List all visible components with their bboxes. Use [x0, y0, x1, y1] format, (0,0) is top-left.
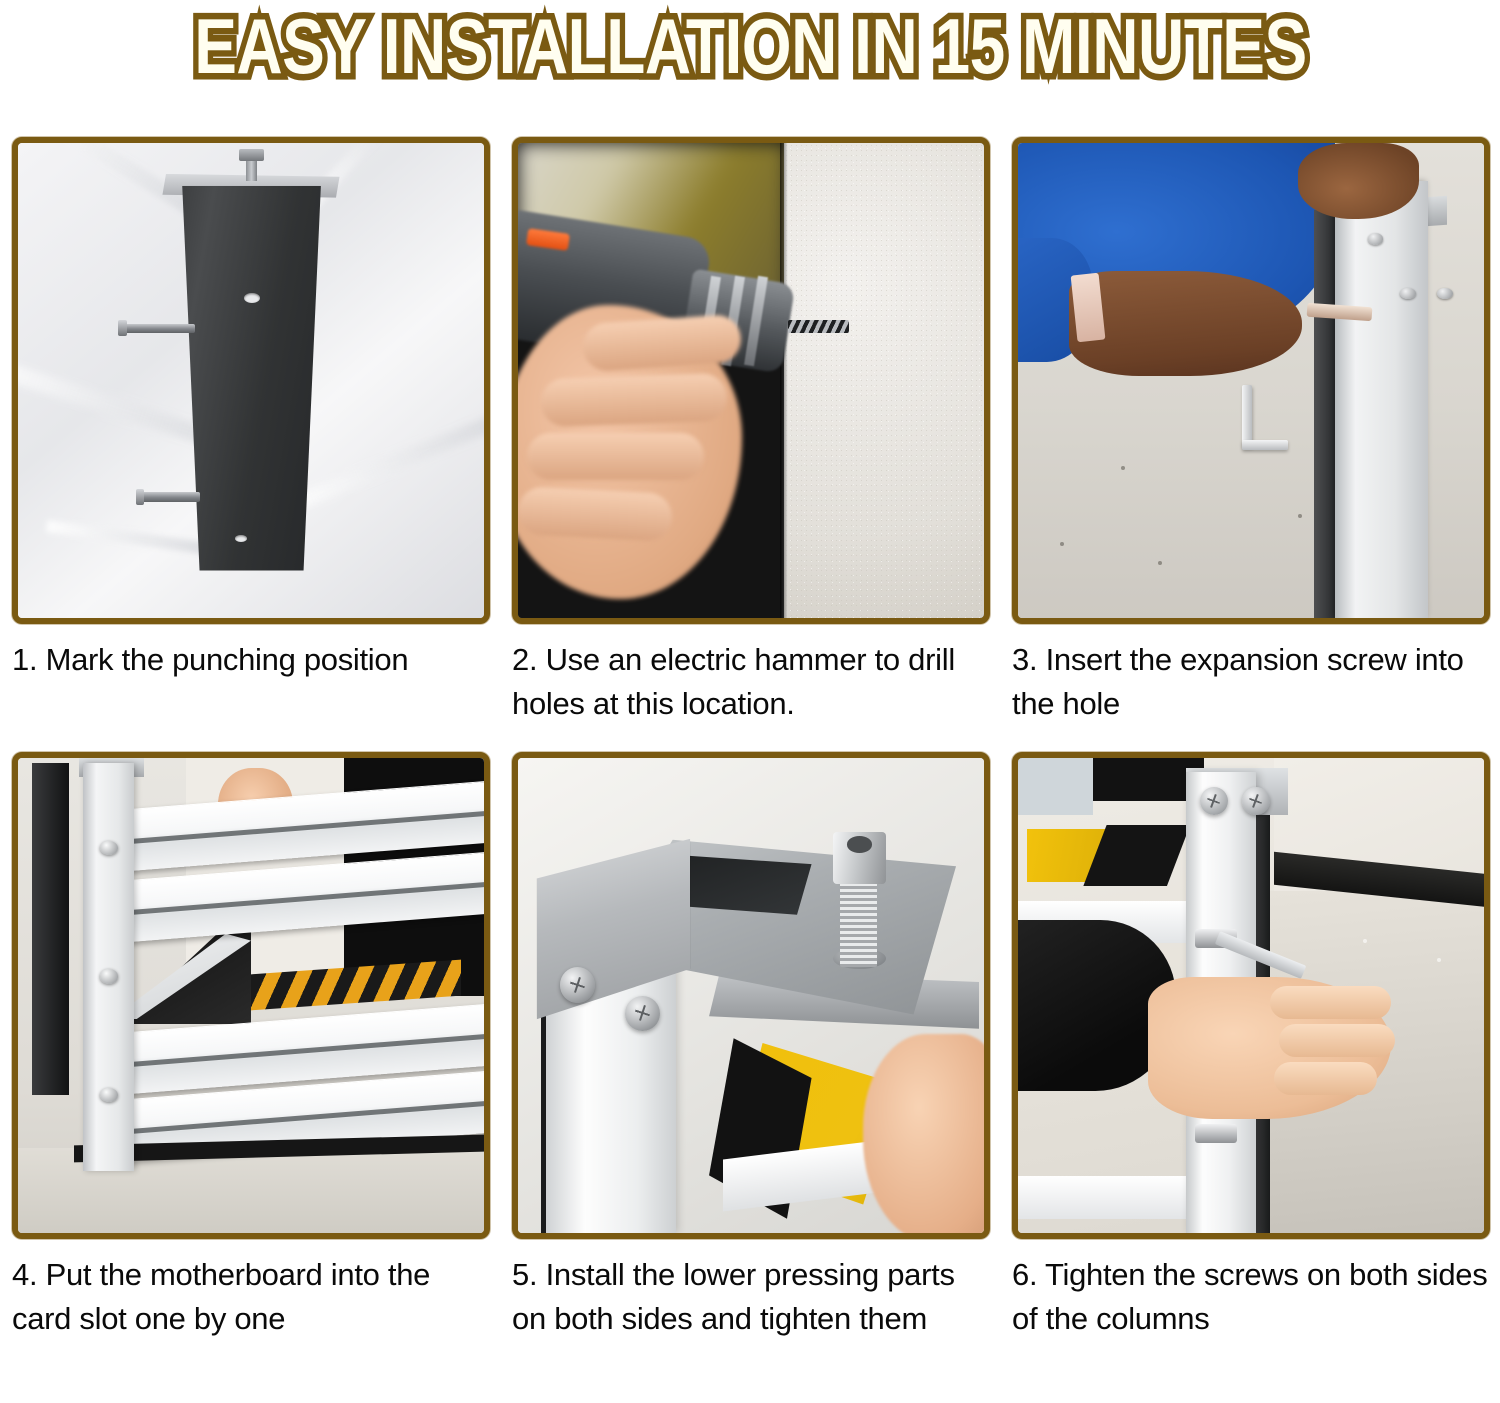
step-3-caption: 3. Insert the expansion screw into the h… — [1012, 638, 1488, 734]
expansion-screw-lower — [139, 492, 200, 502]
phillips-screw-1 — [560, 967, 595, 1003]
step-6-image-frame — [1012, 752, 1490, 1239]
top-bolt — [239, 149, 264, 161]
phillips-screw-1 — [1200, 787, 1228, 816]
step-1-caption: 1. Mark the punching position — [12, 638, 488, 734]
installation-guide-page: EASY INSTALLATION IN 15 MINUTES 1. Mark … — [0, 0, 1500, 1403]
step-5-image-frame — [512, 752, 990, 1239]
step-6-photo-tighten-column-screws — [1018, 758, 1484, 1233]
steps-grid: 1. Mark the punching position — [0, 92, 1500, 1349]
step-card-4: 4. Put the motherboard into the card slo… — [0, 734, 500, 1349]
step-card-2: 2. Use an electric hammer to drill holes… — [500, 92, 1000, 734]
hex-bolt-thread — [840, 877, 877, 967]
step-1-image-frame — [12, 137, 490, 624]
column-base-post — [176, 186, 320, 571]
step-2-photo-drill-holes — [518, 143, 984, 618]
mounting-hole-upper — [244, 293, 260, 303]
page-title: EASY INSTALLATION IN 15 MINUTES — [194, 7, 1307, 85]
step-4-caption: 4. Put the motherboard into the card slo… — [12, 1253, 488, 1349]
hex-key-wrench — [1242, 385, 1252, 447]
step-card-1: 1. Mark the punching position — [0, 92, 500, 734]
step-3-image-frame — [1012, 137, 1490, 624]
hand — [863, 1034, 984, 1234]
step-2-caption: 2. Use an electric hammer to drill holes… — [512, 638, 988, 734]
phillips-screw-2 — [625, 996, 660, 1032]
wall-surface — [784, 143, 984, 618]
expansion-screw-upper — [121, 324, 196, 334]
step-card-3: 3. Insert the expansion screw into the h… — [1000, 92, 1500, 734]
step-card-5: 5. Install the lower pressing parts on b… — [500, 734, 1000, 1349]
phillips-screw-2 — [1242, 787, 1270, 816]
drill-bit — [788, 320, 849, 333]
step-6-caption: 6. Tighten the screws on both sides of t… — [1012, 1253, 1488, 1349]
column-post — [1335, 181, 1428, 618]
step-1-photo-mark-punching-position — [18, 143, 484, 618]
column-bolt-lower — [1195, 1124, 1237, 1143]
step-card-6: 6. Tighten the screws on both sides of t… — [1000, 734, 1500, 1349]
page-title-banner: EASY INSTALLATION IN 15 MINUTES — [0, 0, 1500, 92]
step-2-image-frame — [512, 137, 990, 624]
step-5-caption: 5. Install the lower pressing parts on b… — [512, 1253, 988, 1349]
step-5-photo-install-pressing-parts — [518, 758, 984, 1233]
hand — [1298, 143, 1419, 219]
step-4-image-frame — [12, 752, 490, 1239]
mounting-hole-lower — [235, 535, 247, 542]
forearm — [1069, 271, 1302, 376]
card-slot-post — [83, 763, 134, 1172]
step-4-photo-insert-boards — [18, 758, 484, 1233]
step-3-photo-insert-expansion-screw — [1018, 143, 1484, 618]
